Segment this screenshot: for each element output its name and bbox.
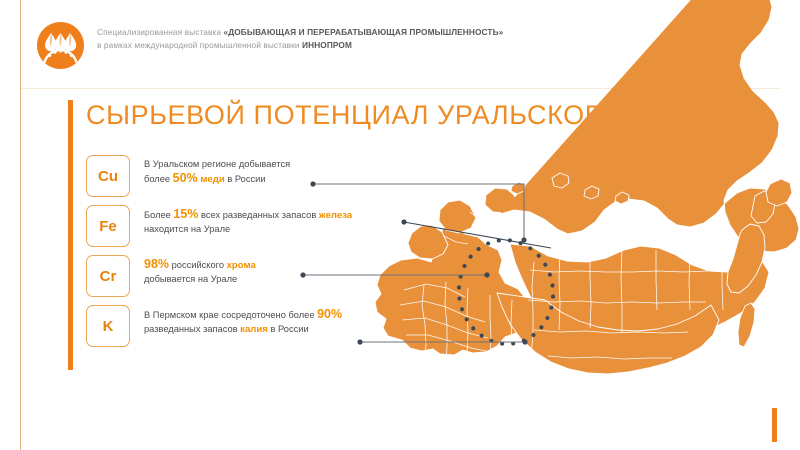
fact-cr-value: 98%: [144, 257, 169, 271]
drops-gear-logo-icon: [37, 22, 84, 69]
header-line-2-bold: ИННОПРОМ: [302, 40, 352, 50]
fact-k-line1-before: В Пермском крае сосредоточено более: [144, 310, 317, 320]
fact-text-fe: Более 15% всех разведанных запасов желез…: [144, 208, 394, 236]
header-line-1-bold: «ДОБЫВАЮЩАЯ И ПЕРЕРАБАТЫВАЮЩАЯ ПРОМЫШЛЕН…: [224, 27, 504, 37]
fact-fe-line2: находится на Урале: [144, 224, 230, 234]
connector-fe: [404, 222, 551, 248]
facts-list: Cu В Уральском регионе добывается более …: [86, 155, 386, 355]
header-line-2: в рамках международной промышленной выст…: [97, 39, 697, 52]
connector-cu-end-dot: [521, 237, 526, 242]
connector-k-end-dot: [522, 339, 527, 344]
fact-k-element: калия: [240, 324, 268, 335]
page-title: СЫРЬЕВОЙ ПОТЕНЦИАЛ УРАЛЬСКОГО РЕГИОНА: [86, 98, 761, 132]
element-badge-cr[interactable]: Cr: [86, 255, 130, 297]
header-line-2-prefix: в рамках международной промышленной выст…: [97, 40, 302, 50]
fact-fe-element: железа: [319, 210, 352, 221]
map-region-borders: [400, 212, 723, 372]
fact-item-cu: Cu В Уральском регионе добывается более …: [86, 155, 386, 205]
element-badge-fe[interactable]: Fe: [86, 205, 130, 247]
fact-item-fe: Fe Более 15% всех разведанных запасов же…: [86, 205, 386, 255]
ural-region-highlight: [452, 234, 560, 350]
fact-fe-line1-mid: всех разведанных запасов: [198, 210, 318, 220]
fact-cu-line2-after: в России: [225, 174, 266, 184]
fact-item-cr: Cr 98% российского хрома добывается на У…: [86, 255, 386, 305]
fact-cr-line2: добывается на Урале: [144, 274, 237, 284]
fact-text-k: В Пермском крае сосредоточено более 90% …: [144, 308, 394, 336]
fact-k-value: 90%: [317, 307, 342, 321]
header-text-block: Специализированная выставка «ДОБЫВАЮЩАЯ …: [97, 26, 697, 52]
fact-cu-line1: В Уральском регионе добывается: [144, 159, 290, 169]
element-badge-cu[interactable]: Cu: [86, 155, 130, 197]
fact-cu-value: 50%: [173, 171, 198, 185]
fact-cu-line2-before: более: [144, 174, 173, 184]
slide-canvas: Специализированная выставка «ДОБЫВАЮЩАЯ …: [0, 0, 800, 450]
header-separator: [21, 88, 780, 89]
fact-cr-line1-mid: российского: [169, 260, 227, 270]
fact-fe-value: 15%: [173, 207, 198, 221]
element-badge-k[interactable]: K: [86, 305, 130, 347]
fact-k-line2-after: в России: [268, 324, 309, 334]
fact-text-cr: 98% российского хрома добывается на Урал…: [144, 258, 394, 286]
fact-item-k: K В Пермском крае сосредоточено более 90…: [86, 305, 386, 355]
header-line-1-prefix: Специализированная выставка: [97, 27, 224, 37]
fact-k-line2-before: разведанных запасов: [144, 324, 240, 334]
fact-cr-element: хрома: [227, 260, 256, 271]
fact-fe-line1-before: Более: [144, 210, 173, 220]
header-line-1: Специализированная выставка «ДОБЫВАЮЩАЯ …: [97, 26, 697, 39]
fact-cu-element: меди: [198, 174, 225, 185]
corner-accent-bar: [772, 408, 777, 442]
title-accent-bar: [68, 100, 73, 370]
connector-fe-start-dot: [401, 219, 406, 224]
connector-cr-end-dot: [484, 272, 489, 277]
header: Специализированная выставка «ДОБЫВАЮЩАЯ …: [20, 12, 780, 72]
fact-text-cu: В Уральском регионе добывается более 50%…: [144, 158, 394, 186]
